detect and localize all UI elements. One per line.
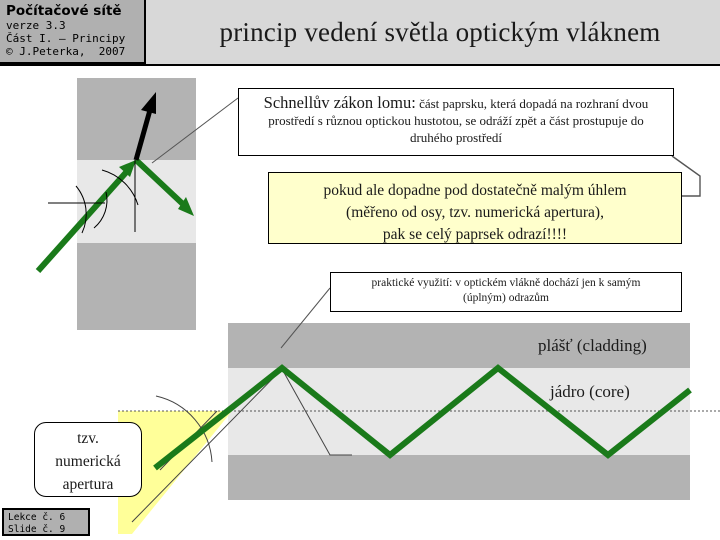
slide-canvas: princip vedení světla optickým vláknem P… bbox=[0, 0, 720, 540]
course-version: verze 3.3 bbox=[6, 19, 144, 32]
top-middle-medium-block bbox=[77, 160, 196, 243]
top-lower-medium-block bbox=[77, 243, 196, 330]
na-line2: numerická bbox=[55, 453, 120, 470]
acceptance-angle-arc bbox=[156, 396, 212, 462]
slide-footer-badge: Lekce č. 6 Slide č. 9 bbox=[2, 508, 90, 536]
yellow-line1: pokud ale dopadne pod dostatečně malým ú… bbox=[323, 182, 626, 199]
callout-practical-use: praktické využití: v optickém vlákně doc… bbox=[330, 272, 682, 312]
slide-number: Slide č. 9 bbox=[8, 524, 88, 536]
fiber-core-label: jádro (core) bbox=[550, 382, 630, 402]
practical-line2: (úplným) odrazům bbox=[463, 292, 549, 304]
na-line3: apertura bbox=[63, 476, 114, 493]
fiber-lower-cladding bbox=[228, 455, 690, 500]
course-copyright: © J.Peterka, 2007 bbox=[6, 45, 144, 58]
callout-schnell-law: Schnellův zákon lomu: část paprsku, kter… bbox=[238, 88, 674, 156]
schnell-line2: prostředí s různou optickou hustotou, se… bbox=[268, 113, 643, 128]
callout-numerical-aperture: tzv. numerická apertura bbox=[34, 422, 142, 497]
practical-line1: praktické využití: v optickém vlákně doc… bbox=[372, 277, 641, 289]
schnell-line3: druhého prostředí bbox=[410, 130, 502, 145]
course-part: Část I. – Principy bbox=[6, 32, 144, 45]
yellow-line2: (měřeno od osy, tzv. numerická apertura)… bbox=[346, 204, 604, 221]
fiber-cladding-label: plášť (cladding) bbox=[538, 336, 647, 356]
course-logo-box: Počítačové sítě verze 3.3 Část I. – Prin… bbox=[0, 0, 146, 64]
yellow-line3: pak se celý paprsek odrazí!!!! bbox=[383, 226, 567, 243]
lesson-number: Lekce č. 6 bbox=[8, 512, 88, 524]
schnell-rest-text: část paprsku, která dopadá na rozhraní d… bbox=[416, 96, 648, 111]
na-line1: tzv. bbox=[77, 430, 99, 447]
schnell-lead-text: Schnellův zákon lomu: bbox=[264, 93, 416, 112]
callout-total-reflection: pokud ale dopadne pod dostatečně malým ú… bbox=[268, 172, 682, 244]
course-title: Počítačové sítě bbox=[6, 4, 144, 19]
escaping-ray-extension bbox=[160, 411, 217, 470]
page-title: princip vedení světla optickým vláknem bbox=[160, 0, 720, 64]
top-upper-medium-block bbox=[77, 78, 196, 160]
